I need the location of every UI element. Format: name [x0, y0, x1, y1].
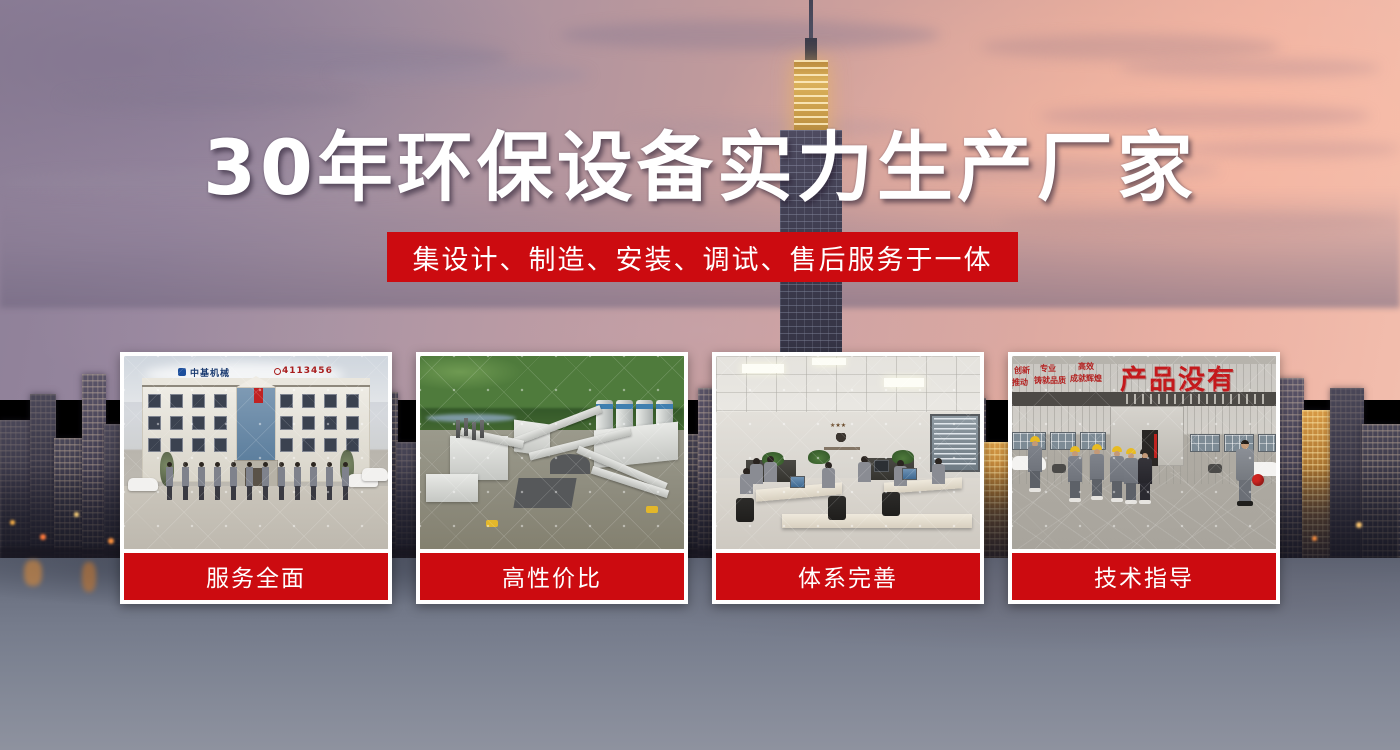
promo-banner: 30年环保设备实力生产厂家 集设计、制造、安装、调试、售后服务于一体 中基机械 …: [0, 0, 1400, 750]
feature-card-training[interactable]: 产品没有 创新 推动 专业 铸就品质 高效 成就辉煌: [1008, 352, 1280, 604]
card-label-service: 服务全面: [124, 553, 388, 600]
aerial-plant-photo: [420, 356, 684, 549]
feature-card-value[interactable]: 高性价比: [416, 352, 688, 604]
card-label-system: 体系完善: [716, 553, 980, 600]
company-headquarters-photo: 中基机械 4113456: [124, 356, 388, 549]
card-label-training: 技术指导: [1012, 553, 1276, 600]
workshop-training-photo: 产品没有 创新 推动 专业 铸就品质 高效 成就辉煌: [1012, 356, 1276, 549]
card-label-value: 高性价比: [420, 553, 684, 600]
feature-card-service[interactable]: 中基机械 4113456: [120, 352, 392, 604]
page-title: 30年环保设备实力生产厂家: [0, 127, 1400, 209]
subtitle-text: 集设计、制造、安装、调试、售后服务于一体: [413, 238, 993, 277]
feature-card-list: 中基机械 4113456: [120, 352, 1282, 604]
subtitle-bar: 集设计、制造、安装、调试、售后服务于一体: [387, 232, 1018, 282]
feature-card-system[interactable]: ★★★: [712, 352, 984, 604]
office-interior-photo: ★★★: [716, 356, 980, 549]
